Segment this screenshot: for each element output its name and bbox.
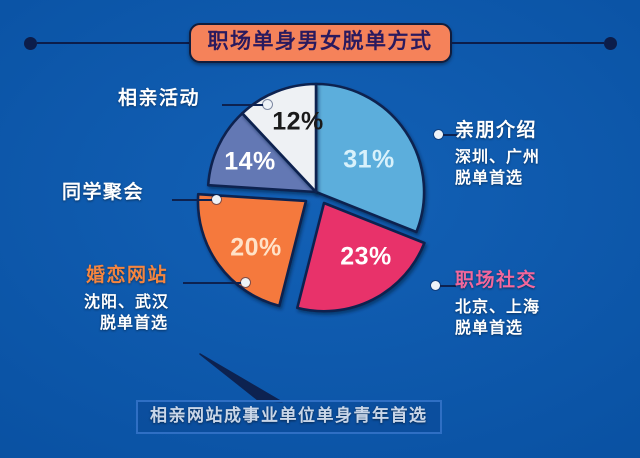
callout-qinpeng-sub-line2: 脱单首选 <box>455 168 540 189</box>
infographic-canvas: 职场单身男女脱单方式 <box>0 0 640 458</box>
callout-zhichang-subtitle: 北京、上海 脱单首选 <box>455 297 540 340</box>
leader-dot-xiangqin <box>263 100 272 109</box>
leader-dot-zhichang <box>431 281 440 290</box>
pie-value-hunlian: 20% <box>230 234 282 262</box>
leader-line-xiangqin <box>222 104 268 106</box>
callout-qinpeng-sub-line1: 深圳、广州 <box>455 147 540 168</box>
pie-value-qinpeng: 31% <box>343 146 395 174</box>
callout-qinpeng-subtitle: 深圳、广州 脱单首选 <box>455 147 540 190</box>
callout-zhichang-title: 职场社交 <box>455 270 540 293</box>
callout-zhichang-sub-line1: 北京、上海 <box>455 297 540 318</box>
pie-value-zhichang: 23% <box>340 243 392 271</box>
caption-pointer-arrow <box>196 352 286 404</box>
leader-dot-hunlian <box>241 278 250 287</box>
callout-zhichang-sub-line2: 脱单首选 <box>455 318 540 339</box>
leader-line-hunlian <box>183 282 243 284</box>
callout-tongxue: 同学聚会 <box>62 182 144 205</box>
leader-dot-qinpeng <box>434 130 443 139</box>
title-left-dot <box>24 37 37 50</box>
callout-xiangqin: 相亲活动 <box>118 88 200 111</box>
pie-value-xiangqin: 12% <box>272 108 324 136</box>
title-left-line <box>37 42 189 44</box>
caption-box: 相亲网站成事业单位单身青年首选 <box>136 400 442 434</box>
callout-zhichang: 职场社交 北京、上海 脱单首选 <box>455 270 540 339</box>
pie-chart-svg: 31% 23% 20% 14% 12% <box>188 76 452 326</box>
pie-value-tongxue: 14% <box>224 148 276 176</box>
callout-tongxue-title: 同学聚会 <box>62 182 144 205</box>
callout-qinpeng-title: 亲朋介绍 <box>455 120 540 143</box>
page-title: 职场单身男女脱单方式 <box>189 23 452 63</box>
callout-hunlian-subtitle: 沈阳、武汉 脱单首选 <box>84 292 169 335</box>
leader-line-tongxue <box>172 199 216 201</box>
title-right-dot <box>604 37 617 50</box>
title-right-line <box>452 42 604 44</box>
title-row: 职场单身男女脱单方式 <box>0 20 640 66</box>
leader-line-zhichang <box>440 285 456 287</box>
leader-dot-tongxue <box>212 195 221 204</box>
callout-qinpeng: 亲朋介绍 深圳、广州 脱单首选 <box>455 120 540 189</box>
callout-xiangqin-title: 相亲活动 <box>118 88 200 111</box>
callout-hunlian-sub-line1: 沈阳、武汉 <box>84 292 169 313</box>
callout-hunlian-sub-line2: 脱单首选 <box>100 313 169 334</box>
callout-hunlian-title: 婚恋网站 <box>86 265 169 288</box>
callout-hunlian: 婚恋网站 沈阳、武汉 脱单首选 <box>86 265 169 334</box>
pie-chart: 31% 23% 20% 14% 12% <box>188 76 452 326</box>
